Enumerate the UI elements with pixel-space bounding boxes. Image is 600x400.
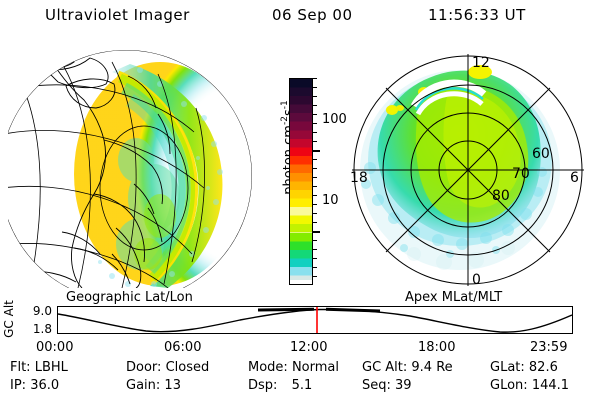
status-door-key: Door: [126, 360, 161, 375]
status-gain-value: 13 [164, 378, 181, 393]
colorbar-ticks [312, 78, 320, 285]
orbit-altitude-strip[interactable]: GC Alt 9.0 1.8 [0, 300, 600, 342]
mlat-mlt-grid [352, 54, 584, 286]
colorbar-color-scale [290, 79, 312, 284]
status-mode-key: Mode: [248, 360, 288, 375]
status-flt: Flt: LBHL [10, 360, 68, 375]
mlt-label-6: 6 [570, 170, 579, 186]
status-gain: Gain: 13 [126, 378, 181, 393]
instrument-title: Ultraviolet Imager [45, 6, 190, 24]
mlt-label-0: 0 [472, 272, 481, 288]
orbit-y-tick-top: 9.0 [22, 304, 52, 318]
status-dsp-value: 5.1 [292, 378, 313, 393]
header-bar: Ultraviolet Imager 06 Sep 00 11:56:33 UT [0, 4, 600, 30]
colorbar-legend: photon cm-2s-1 [256, 48, 344, 292]
colorbar-tick-label-10: 10 [322, 193, 339, 208]
status-glon-value: 144.1 [532, 378, 569, 393]
apogee-segment-left [258, 309, 314, 310]
time-tick-3: 18:00 [418, 340, 455, 355]
orbit-plot-area[interactable] [57, 306, 573, 334]
orbit-time-axis: 00:00 06:00 12:00 18:00 23:59 [0, 340, 600, 358]
status-gcalt: GC Alt: 9.4 Re [362, 360, 453, 375]
status-seq-key: Seq: [362, 378, 391, 393]
time-tick-0: 00:00 [36, 340, 73, 355]
polar-emission-region [360, 65, 560, 270]
mlat-label-80: 80 [492, 188, 510, 204]
time-tick-1: 06:00 [164, 340, 201, 355]
altitude-track-line [58, 307, 572, 333]
status-gcalt-key: GC Alt: [362, 360, 407, 375]
status-glon: GLon: 144.1 [490, 378, 569, 393]
apex-mlat-mlt-heatmap: 12 18 6 0 60 70 80 [344, 48, 592, 288]
observation-date: 06 Sep 00 [272, 6, 352, 24]
mlat-label-70: 70 [512, 166, 530, 182]
orbit-y-axis-label: GC Alt [2, 293, 16, 345]
status-dsp: Dsp: 5.1 [248, 378, 312, 393]
status-flt-value: LBHL [35, 360, 68, 375]
time-tick-4: 23:59 [530, 340, 567, 355]
apogee-segment-right [326, 309, 380, 311]
observation-time: 11:56:33 UT [428, 6, 526, 24]
status-gcalt-value: 9.4 Re [411, 360, 452, 375]
status-glat: GLat: 82.6 [490, 360, 558, 375]
colorbar-swatch [289, 78, 313, 285]
status-dsp-key: Dsp: [248, 378, 277, 393]
mlt-label-12: 12 [472, 55, 490, 71]
status-door: Door: Closed [126, 360, 209, 375]
status-mode-value: Normal [292, 360, 339, 375]
status-seq: Seq: 39 [362, 378, 412, 393]
apex-polar-panel[interactable]: 12 18 6 0 60 70 80 [344, 48, 592, 288]
gc-altitude-curve [58, 310, 572, 333]
orbit-y-tick-bottom: 1.8 [22, 322, 52, 336]
status-ip-value: 36.0 [30, 378, 59, 393]
status-gain-key: Gain: [126, 378, 160, 393]
time-tick-2: 12:00 [290, 340, 327, 355]
status-flt-key: Flt: [10, 360, 31, 375]
status-mode: Mode: Normal [248, 360, 339, 375]
geographic-auroral-heatmap [8, 48, 256, 288]
status-seq-value: 39 [395, 378, 412, 393]
status-door-value: Closed [166, 360, 210, 375]
mlt-label-18: 18 [350, 170, 368, 186]
mlat-label-60: 60 [532, 146, 550, 162]
status-ip: IP: 36.0 [10, 378, 59, 393]
status-glat-value: 82.6 [529, 360, 558, 375]
status-ip-key: IP: [10, 378, 26, 393]
status-glat-key: GLat: [490, 360, 525, 375]
status-panel: Flt: LBHL Door: Closed Mode: Normal GC A… [0, 360, 600, 398]
geographic-image-panel[interactable] [8, 48, 256, 288]
status-glon-key: GLon: [490, 378, 528, 393]
